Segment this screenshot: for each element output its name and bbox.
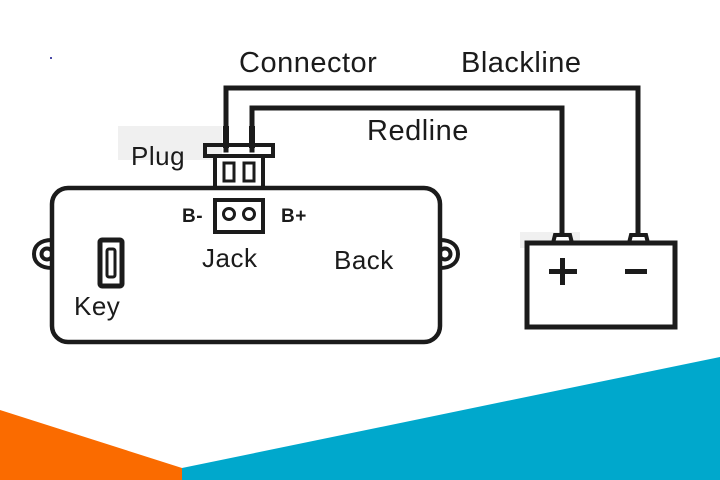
label-connector: Connector: [239, 49, 377, 78]
label-redline: Redline: [367, 117, 469, 146]
label-blackline: Blackline: [461, 49, 582, 78]
battery-minus-symbol: [625, 269, 647, 274]
banner-cyan-shape: [182, 357, 720, 480]
label-key: Key: [74, 293, 120, 319]
label-terminal-positive: B+: [281, 207, 307, 226]
label-back: Back: [334, 247, 394, 273]
battery: [527, 235, 675, 327]
label-jack: Jack: [202, 245, 257, 271]
decorative-banner: [0, 340, 720, 480]
label-terminal-negative: B-: [182, 207, 203, 226]
label-plug: Plug: [131, 143, 185, 169]
banner-orange-shape: [0, 410, 182, 480]
jack-socket: [215, 200, 263, 232]
plug-connector: [205, 126, 273, 188]
key-button: [100, 240, 122, 286]
diagram-canvas: Connector Blackline Redline Plug Jack Ba…: [0, 0, 720, 480]
